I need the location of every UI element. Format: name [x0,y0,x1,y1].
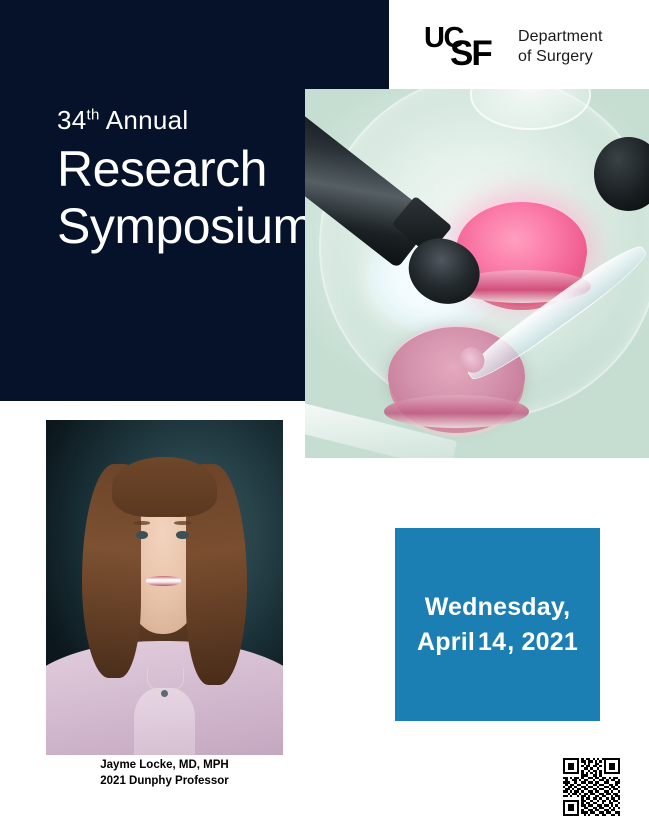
portrait-hair-fringe [112,457,216,517]
annual-ordinal-suffix: th [87,106,100,123]
event-date-block: Wednesday, April14, 2021 [395,528,600,721]
event-date-day: 14 [478,628,506,656]
speaker-name: Jayme Locke, MD, MPH [46,758,283,774]
speaker-caption: Jayme Locke, MD, MPH 2021 Dunphy Profess… [46,758,283,790]
event-date-full: April14, 2021 [417,625,578,660]
department-line-1: Department [518,27,603,47]
lab-photo [305,89,649,458]
event-date-weekday: Wednesday, [425,590,571,625]
speaker-portrait [46,420,283,755]
portrait-eye-left [136,531,148,539]
ucsf-wordmark-icon: UC SF [424,24,506,72]
portrait-eyebrow-left [134,521,151,525]
ucsf-mark-sf: SF [450,36,491,71]
qr-code[interactable] [562,757,621,817]
qr-code-matrix [563,758,620,816]
department-line-2: of Surgery [518,47,603,67]
petri-dish-lower-rim [384,395,528,428]
portrait-smile [146,576,182,586]
department-name: Department of Surgery [518,24,603,68]
portrait-eye-right [176,531,188,539]
portrait-neckline [134,688,196,755]
lab-photo-scene [305,89,649,458]
event-date-year: 2021 [522,628,578,656]
ucsf-logo: UC SF Department of Surgery [424,24,603,72]
event-date-comma: , [507,628,514,656]
speaker-title: 2021 Dunphy Professor [46,774,283,790]
annual-number: 34 [57,105,87,135]
portrait-eyebrow-right [174,521,191,525]
event-date-month: April [417,628,475,656]
annual-word: Annual [106,105,189,135]
